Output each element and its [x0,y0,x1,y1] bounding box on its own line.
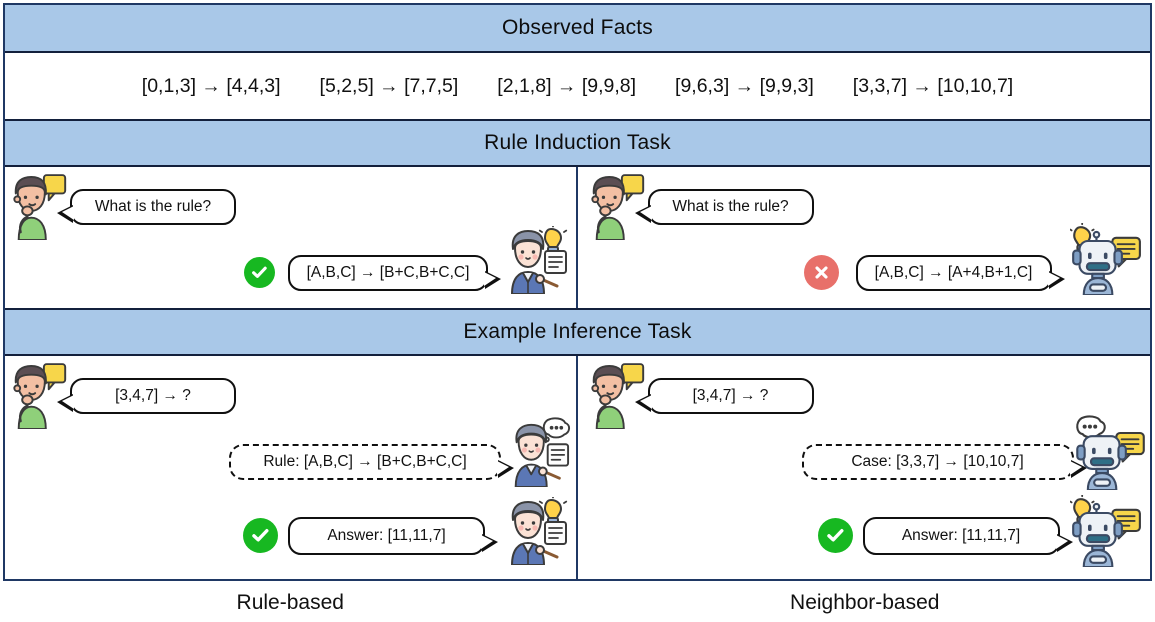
rule-answer-bubble: [A,B,C] → [B+C,B+C,C] [288,255,488,291]
caption-left-wrapper: Rule-based [3,584,578,622]
teacher-avatar [501,496,569,566]
check-mark-icon [818,518,853,553]
section-title-observed-facts: Observed Facts [502,16,653,40]
section-title-rule-induction: Rule Induction Task [484,131,671,155]
question-bubble: What is the rule? [70,189,236,225]
cross-mark-icon [804,255,839,290]
observed-fact: [2,1,8] → [9,9,8] [497,75,636,98]
rule-induction-panels: What is the rule? [A,B,C] → [B+C,B+C,C] … [5,167,1150,308]
robot-avatar [1070,222,1142,296]
query-bubble: [3,4,7] → ? [648,378,814,414]
observed-fact: [5,2,5] → [7,7,5] [320,75,459,98]
robot-avatar [1070,494,1142,568]
reasoning-bubble: Rule: [A,B,C] → [B+C,B+C,C] [229,444,501,480]
observed-fact: [3,3,7] → [10,10,7] [853,75,1013,98]
section-header-observed-facts: Observed Facts [5,5,1150,53]
check-mark-icon [244,257,275,288]
teacher-avatar-thinking [505,416,571,488]
rule-answer-bubble: [A,B,C] → [A+4,B+1,C] [856,255,1052,291]
section-title-example-inference: Example Inference Task [463,320,691,344]
caption-rule-based: Rule-based [237,591,344,615]
final-answer-bubble: Answer: [11,11,7] [288,517,485,555]
caption-right-wrapper: Neighbor-based [578,584,1153,622]
captions-row: Rule-based Neighbor-based [3,584,1152,622]
figure-frame: Observed Facts [0,1,3] → [4,4,3] [5,2,5]… [3,3,1152,581]
check-mark-icon [243,518,278,553]
figure-root: Observed Facts [0,1,3] → [4,4,3] [5,2,5]… [0,0,1155,622]
rule-induction-left-panel: What is the rule? [A,B,C] → [B+C,B+C,C] [5,167,578,308]
caption-neighbor-based: Neighbor-based [790,591,939,615]
example-inference-panels: [3,4,7] → ? Rule: [A,B,C] → [B+C,B+C,C] … [5,356,1150,579]
observed-fact: [9,6,3] → [9,9,3] [675,75,814,98]
section-header-example-inference: Example Inference Task [5,308,1150,356]
final-answer-bubble: Answer: [11,11,7] [863,517,1060,555]
rule-induction-right-panel: What is the rule? [A,B,C] → [A+4,B+1,C] [578,167,1151,308]
query-bubble: [3,4,7] → ? [70,378,236,414]
section-header-rule-induction: Rule Induction Task [5,119,1150,167]
reasoning-bubble: Case: [3,3,7] → [10,10,7] [802,444,1074,480]
observed-fact: [0,1,3] → [4,4,3] [142,75,281,98]
teacher-avatar [501,225,569,295]
question-bubble: What is the rule? [648,189,814,225]
robot-avatar-thinking [1074,414,1146,490]
observed-facts-row: [0,1,3] → [4,4,3] [5,2,5] → [7,7,5] [2,1… [5,53,1150,119]
example-inference-left-panel: [3,4,7] → ? Rule: [A,B,C] → [B+C,B+C,C] … [5,356,578,579]
example-inference-right-panel: [3,4,7] → ? Case: [3,3,7] → [10,10,7] An… [578,356,1151,579]
